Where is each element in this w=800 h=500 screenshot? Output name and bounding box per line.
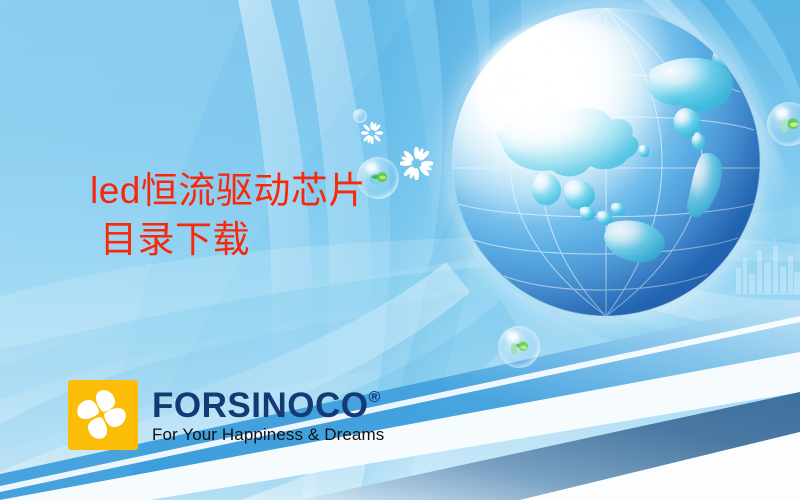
bubble-small-top [353,109,367,123]
sparkle-flower-large-icon [400,147,433,180]
headline-text: led恒流驱动芯片 目录下载 [90,166,366,264]
earth-globe [452,8,760,316]
bubble-globe-lower [498,326,540,368]
registered-trademark-icon: ® [368,390,380,406]
bubble-highlight [775,107,789,118]
brand-name: FORSINOCO® [152,388,384,423]
bubble-highlight [365,162,378,173]
sparkle-flower-small-icon [361,122,383,144]
headline-line-1: led恒流驱动芯片 [90,170,366,211]
logo-tagline: For Your Happiness & Dreams [152,426,384,443]
globe-surface [452,8,760,316]
bubble-highlight [506,331,519,342]
company-logo: FORSINOCO® For Your Happiness & Dreams [68,380,384,450]
four-petal-pinwheel-icon [68,380,138,450]
brand-text: FORSINOCO [152,388,368,423]
headline-line-2: 目录下载 [100,215,366,264]
logo-wordmark: FORSINOCO® For Your Happiness & Dreams [152,388,384,443]
banner-canvas: led恒流驱动芯片 目录下载 FORSINOCO® For Your Happi… [0,0,800,500]
